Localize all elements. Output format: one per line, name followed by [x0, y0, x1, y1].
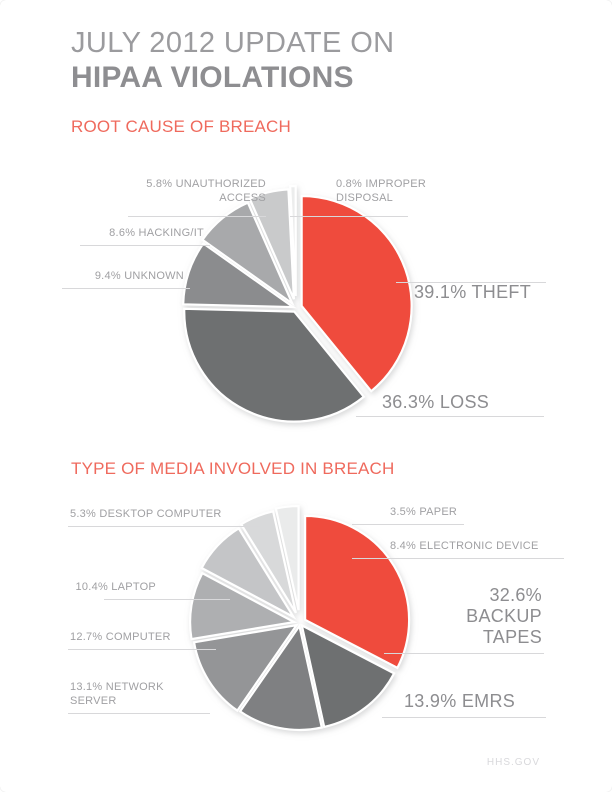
leader-line-network-server — [68, 713, 210, 714]
label-hacking-it: 8.6% HACKING/IT — [44, 227, 204, 241]
leader-line-unauthorized-access — [128, 216, 266, 217]
label-loss: 36.3% LOSS — [382, 392, 582, 413]
label-electronic-device: 8.4% ELECTRONIC DEVICE — [390, 540, 580, 554]
label-backup-tapes: 32.6% BACKUP TAPES — [396, 585, 542, 648]
label-network-server: 13.1% NETWORK SERVER — [70, 681, 230, 708]
leader-line-theft — [396, 282, 546, 283]
section-title-root-cause: ROOT CAUSE OF BREACH — [71, 117, 291, 137]
source-footer: HHS.GOV — [487, 757, 540, 768]
leader-line-loss — [356, 416, 544, 417]
leader-line-improper-disposal — [290, 216, 408, 217]
leader-line-computer — [68, 649, 216, 650]
label-unauthorized-access: 5.8% UNAUTHORIZED ACCESS — [44, 178, 266, 205]
label-unknown: 9.4% UNKNOWN — [44, 270, 184, 284]
leader-line-backup-tapes — [384, 653, 544, 654]
label-laptop: 10.4% LAPTOP — [26, 581, 156, 595]
label-computer: 12.7% COMPUTER — [70, 631, 230, 645]
page-header: JULY 2012 UPDATE ON HIPAA VIOLATIONS — [71, 26, 395, 96]
page-title-line2: HIPAA VIOLATIONS — [71, 60, 395, 96]
label-theft: 39.1% THEFT — [414, 282, 594, 303]
label-desktop-computer: 5.3% DESKTOP COMPUTER — [70, 508, 270, 522]
page-title-line1: JULY 2012 UPDATE ON — [71, 26, 395, 60]
label-improper-disposal: 0.8% IMPROPER DISPOSAL — [336, 178, 516, 205]
infographic-page: JULY 2012 UPDATE ON HIPAA VIOLATIONS ROO… — [0, 0, 612, 792]
leader-line-unknown — [62, 288, 190, 289]
leader-line-electronic-device — [352, 558, 564, 559]
leader-line-paper — [352, 524, 464, 525]
pie-chart-media-type: 5.3% DESKTOP COMPUTER 10.4% LAPTOP 12.7%… — [0, 495, 612, 745]
section-title-media-type: TYPE OF MEDIA INVOLVED IN BREACH — [71, 459, 394, 479]
pie-chart-root-cause: 5.8% UNAUTHORIZED ACCESS 8.6% HACKING/IT… — [0, 160, 612, 440]
label-emrs: 13.9% EMRS — [404, 691, 594, 712]
leader-line-laptop — [104, 599, 230, 600]
leader-line-desktop-computer — [68, 526, 260, 527]
label-paper: 3.5% PAPER — [390, 506, 550, 520]
leader-line-hacking-it — [80, 245, 210, 246]
leader-line-emrs — [382, 717, 546, 718]
